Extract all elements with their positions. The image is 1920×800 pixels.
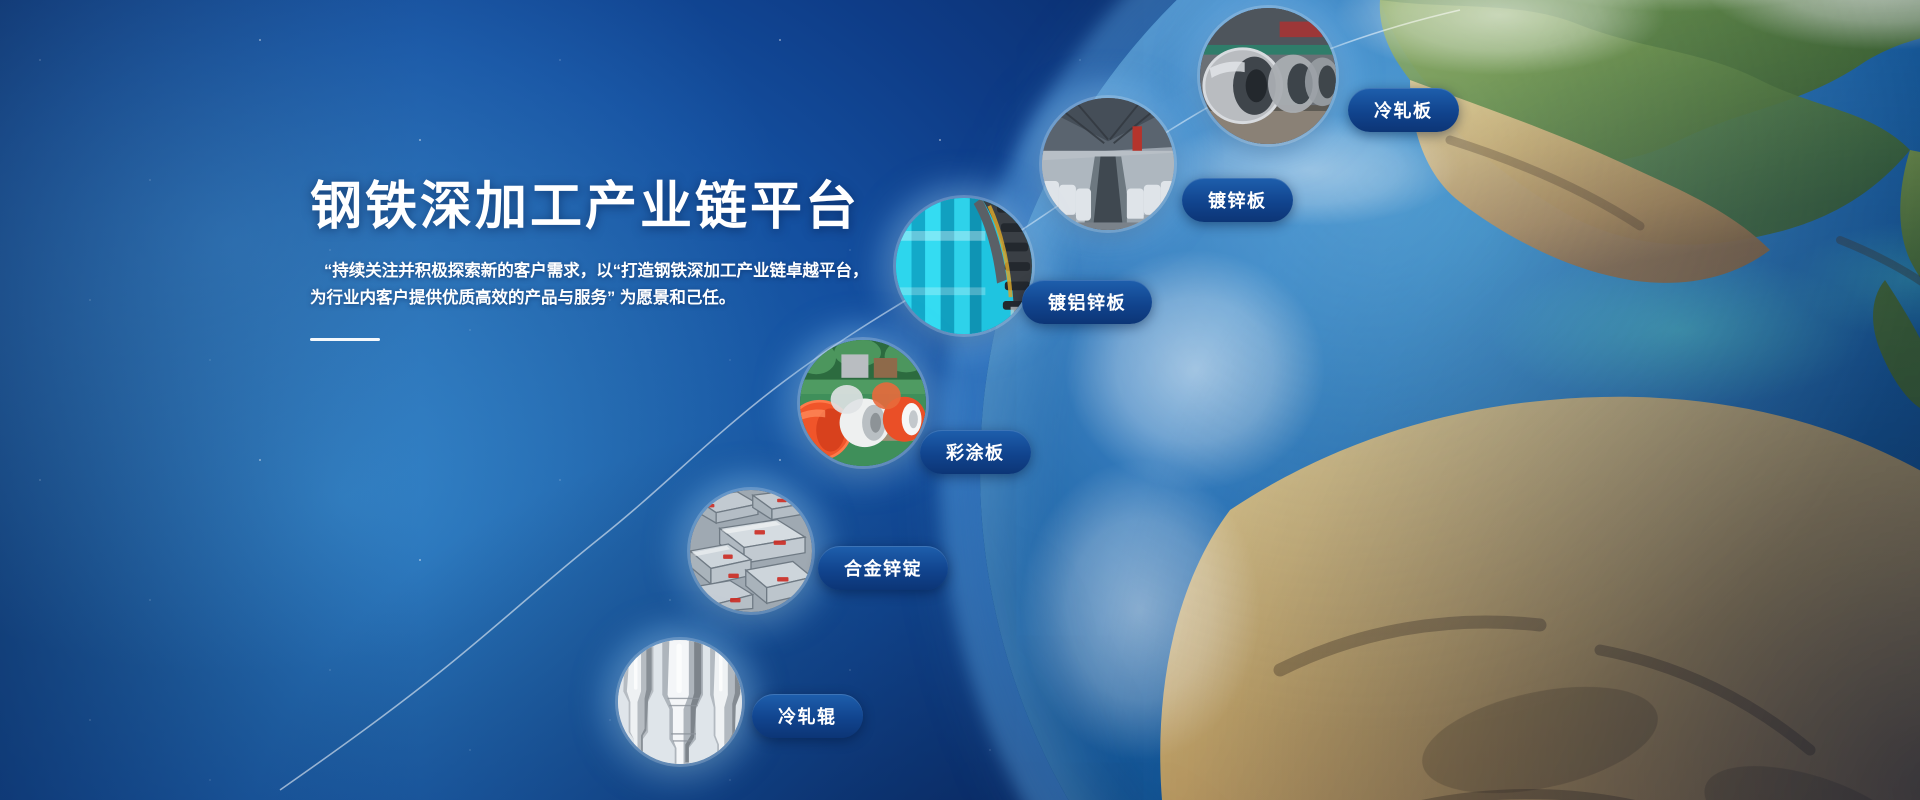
product-label-zinc-alloy-ingot[interactable]: 合金锌锭: [818, 546, 948, 590]
product-label-cold-rolling-roll[interactable]: 冷轧辊: [752, 694, 863, 738]
hero-banner: 钢铁深加工产业链平台 “持续关注并积极探索新的客户需求，以“打造钢铁深加工产业链…: [0, 0, 1920, 800]
cold-roll-shaft-photo[interactable]: [618, 640, 742, 764]
product-label-color-coated-plate[interactable]: 彩涂板: [920, 430, 1031, 474]
starfield-texture: [0, 0, 1920, 800]
subtitle-line-2: 为行业内客户提供优质高效的产品与服务” 为愿景和己任。: [310, 285, 870, 312]
product-label-cold-rolled-plate[interactable]: 冷轧板: [1348, 88, 1459, 132]
page-title: 钢铁深加工产业链平台: [310, 178, 930, 236]
zinc-ingot-stack-photo[interactable]: [690, 490, 812, 612]
product-label-galvanized-plate[interactable]: 镀锌板: [1182, 178, 1293, 222]
page-subtitle: “持续关注并积极探索新的客户需求，以“打造钢铁深加工产业链卓越平台， 为行业内客…: [310, 258, 870, 311]
color-coated-coil-photo[interactable]: [800, 340, 926, 466]
steel-coil-row-photo[interactable]: [1200, 8, 1336, 144]
galvanized-warehouse-photo[interactable]: [1042, 98, 1174, 230]
headline-block: 钢铁深加工产业链平台 “持续关注并积极探索新的客户需求，以“打造钢铁深加工产业链…: [310, 178, 930, 341]
subtitle-line-1: “持续关注并积极探索新的客户需求，以“打造钢铁深加工产业链卓越平台，: [310, 258, 870, 285]
product-label-aluzinc-plate[interactable]: 镀铝锌板: [1022, 280, 1152, 324]
aluzinc-coil-photo[interactable]: [896, 198, 1032, 334]
title-divider: [310, 338, 380, 341]
